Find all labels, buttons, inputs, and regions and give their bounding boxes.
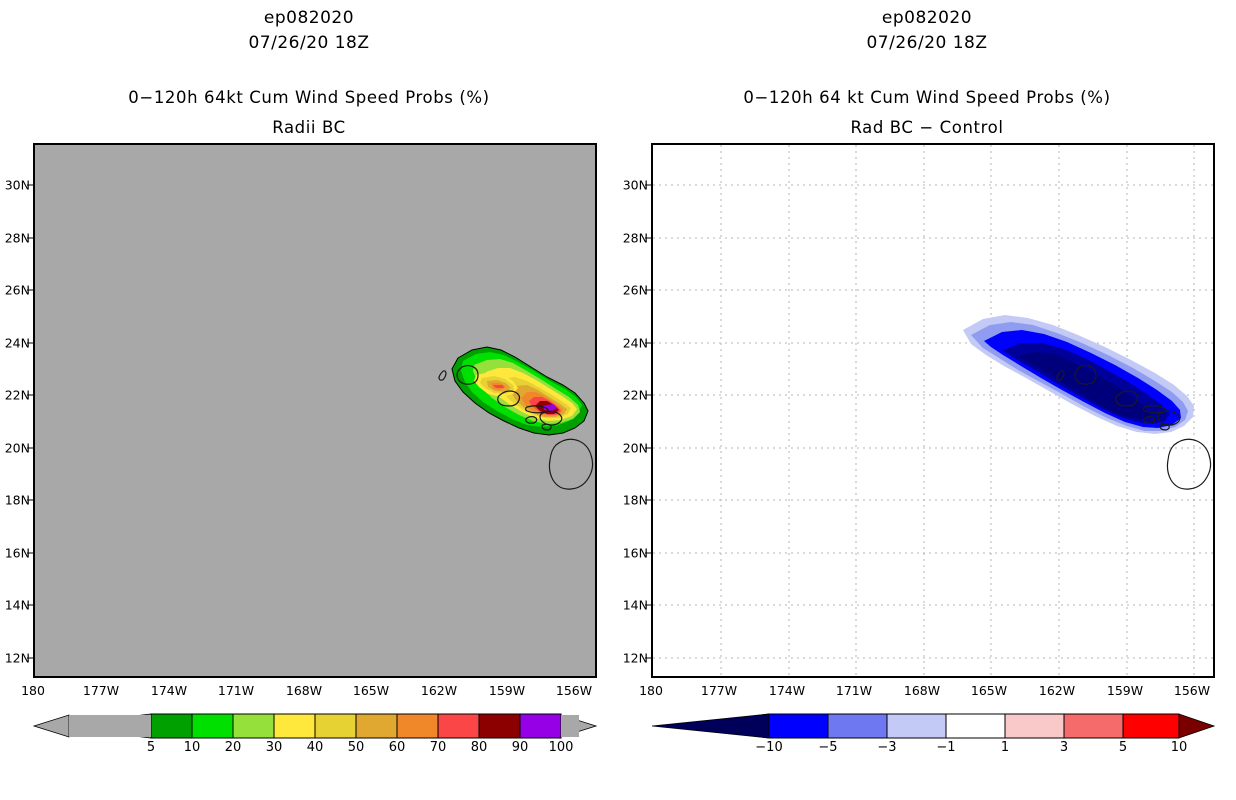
ylabel-24N: 24N xyxy=(5,336,30,351)
cbar-tick-5: 5 xyxy=(147,740,155,755)
cbar-diff-seg-5-10 xyxy=(1123,714,1179,738)
cbar-diff-tick-10: 10 xyxy=(1171,740,1188,755)
xlabel-right-162W: 162W xyxy=(1039,683,1075,698)
xlabel-171W: 171W xyxy=(218,683,254,698)
xlabel-180: 180 xyxy=(21,683,45,698)
ylabel-12N: 12N xyxy=(5,651,30,666)
figure-canvas: ep082020 07/26/20 18Z 0−120h 64kt Cum Wi… xyxy=(0,0,1236,800)
xlabel-right-165W: 165W xyxy=(971,683,1007,698)
cbar-seg-80-90 xyxy=(479,714,520,738)
cbar-tick-20: 20 xyxy=(225,740,242,755)
cbar-segments xyxy=(151,714,561,738)
cbar-tick-10: 10 xyxy=(184,740,201,755)
xlabel-168W: 168W xyxy=(286,683,322,698)
xlabel-right-177W: 177W xyxy=(701,683,737,698)
ylabel-right-14N: 14N xyxy=(623,598,648,613)
xlabel-right-156W: 156W xyxy=(1174,683,1210,698)
ylabel-14N: 14N xyxy=(5,598,30,613)
ylabel-right-16N: 16N xyxy=(623,546,648,561)
panel-right-storm-id: ep082020 xyxy=(618,8,1236,28)
ylabel-28N: 28N xyxy=(5,231,30,246)
cbar-diff-tick-3: 3 xyxy=(1060,740,1068,755)
cbar-tick-30: 30 xyxy=(266,740,283,755)
cbar-diff-tick-minus5: −5 xyxy=(818,740,837,755)
panel-right-title-sub: Rad BC − Control xyxy=(618,118,1236,137)
cbar-diff-tick-1: 1 xyxy=(1001,740,1009,755)
map-clip-left xyxy=(35,145,595,676)
map-plot-difference[interactable] xyxy=(651,143,1215,678)
xlabel-165W: 165W xyxy=(353,683,389,698)
ylabel-right-24N: 24N xyxy=(623,336,648,351)
panel-left-title-sub: Radii BC xyxy=(0,118,618,137)
xlabel-159W: 159W xyxy=(489,683,525,698)
cbar-left-grayfill xyxy=(69,715,151,737)
colorbar-difference[interactable]: −10 −5 −3 −1 1 3 5 10 xyxy=(651,710,1215,770)
panel-right-datetime: 07/26/20 18Z xyxy=(618,33,1236,53)
cbar-right-grayfill xyxy=(561,715,579,737)
cbar-diff-seg-minus3-minus1 xyxy=(887,714,946,738)
ylabel-right-18N: 18N xyxy=(623,493,648,508)
panel-radii-bc: ep082020 07/26/20 18Z 0−120h 64kt Cum Wi… xyxy=(0,0,618,800)
xlabel-162W: 162W xyxy=(421,683,457,698)
ylabel-26N: 26N xyxy=(5,283,30,298)
xlabel-174W: 174W xyxy=(151,683,187,698)
cbar-tick-50: 50 xyxy=(348,740,365,755)
cbar-seg-70-80 xyxy=(438,714,479,738)
xlabel-156W: 156W xyxy=(556,683,592,698)
xlabel-right-171W: 171W xyxy=(836,683,872,698)
cbar-tick-40: 40 xyxy=(307,740,324,755)
cbar-tick-60: 60 xyxy=(389,740,406,755)
island-hawaii-right xyxy=(1167,439,1210,489)
cbar-diff-tick-minus10: −10 xyxy=(755,740,782,755)
ylabel-22N: 22N xyxy=(5,388,30,403)
cbar-diff-tick-minus3: −3 xyxy=(877,740,896,755)
ylabel-right-26N: 26N xyxy=(623,283,648,298)
cbar-diff-over-tip xyxy=(1179,714,1214,738)
cbar-seg-60-70 xyxy=(397,714,438,738)
cbar-diff-segments xyxy=(769,714,1179,738)
cbar-tick-70: 70 xyxy=(430,740,447,755)
island-niihau xyxy=(439,371,446,380)
cbar-diff-seg-minus5-minus3 xyxy=(828,714,887,738)
cbar-diff-tick-5: 5 xyxy=(1119,740,1127,755)
xlabel-right-180: 180 xyxy=(639,683,663,698)
xlabel-177W: 177W xyxy=(83,683,119,698)
panel-rad-bc-minus-control: ep082020 07/26/20 18Z 0−120h 64 kt Cum W… xyxy=(618,0,1236,800)
difference-contours-svg xyxy=(653,145,1213,676)
cbar-diff-seg-minus1-1 xyxy=(946,714,1005,738)
cbar-seg-50-60 xyxy=(356,714,397,738)
panel-right-title-main: 0−120h 64 kt Cum Wind Speed Probs (%) xyxy=(618,88,1236,107)
difference-contour-fills xyxy=(963,315,1194,434)
colorbar-probability-svg xyxy=(33,710,597,744)
cbar-diff-seg-1-3 xyxy=(1005,714,1064,738)
map-clip-right xyxy=(653,145,1213,676)
ylabel-right-20N: 20N xyxy=(623,441,648,456)
cbar-diff-seg-minus10-minus5 xyxy=(769,714,828,738)
ylabel-right-28N: 28N xyxy=(623,231,648,246)
cbar-seg-90-100 xyxy=(520,714,561,738)
panel-left-storm-id: ep082020 xyxy=(0,8,618,28)
ylabel-right-30N: 30N xyxy=(623,178,648,193)
colorbar-probability[interactable]: 5 10 20 30 40 50 60 70 80 90 100 xyxy=(33,710,597,770)
cbar-tick-100: 100 xyxy=(549,740,574,755)
map-plot-radii-bc[interactable] xyxy=(33,143,597,678)
cbar-diff-under-tip xyxy=(652,714,769,738)
ylabel-16N: 16N xyxy=(5,546,30,561)
cbar-seg-10-20 xyxy=(192,714,233,738)
island-hawaii xyxy=(549,439,592,489)
cbar-seg-20-30 xyxy=(233,714,274,738)
cbar-seg-5-10 xyxy=(151,714,192,738)
xlabel-right-168W: 168W xyxy=(904,683,940,698)
cbar-diff-tick-minus1: −1 xyxy=(936,740,955,755)
probability-contours-svg xyxy=(35,145,595,676)
ylabel-right-12N: 12N xyxy=(623,651,648,666)
ylabel-18N: 18N xyxy=(5,493,30,508)
ylabel-20N: 20N xyxy=(5,441,30,456)
cbar-tick-80: 80 xyxy=(471,740,488,755)
colorbar-difference-svg xyxy=(651,710,1215,744)
panel-left-title-main: 0−120h 64kt Cum Wind Speed Probs (%) xyxy=(0,88,618,107)
cbar-diff-seg-3-5 xyxy=(1064,714,1123,738)
xlabel-right-159W: 159W xyxy=(1107,683,1143,698)
ylabel-30N: 30N xyxy=(5,178,30,193)
panel-left-datetime: 07/26/20 18Z xyxy=(0,33,618,53)
cbar-seg-40-50 xyxy=(315,714,356,738)
xlabel-right-174W: 174W xyxy=(769,683,805,698)
cbar-seg-30-40 xyxy=(274,714,315,738)
cbar-tick-90: 90 xyxy=(512,740,529,755)
cbar-under-arrow-tip xyxy=(34,715,69,737)
ylabel-right-22N: 22N xyxy=(623,388,648,403)
